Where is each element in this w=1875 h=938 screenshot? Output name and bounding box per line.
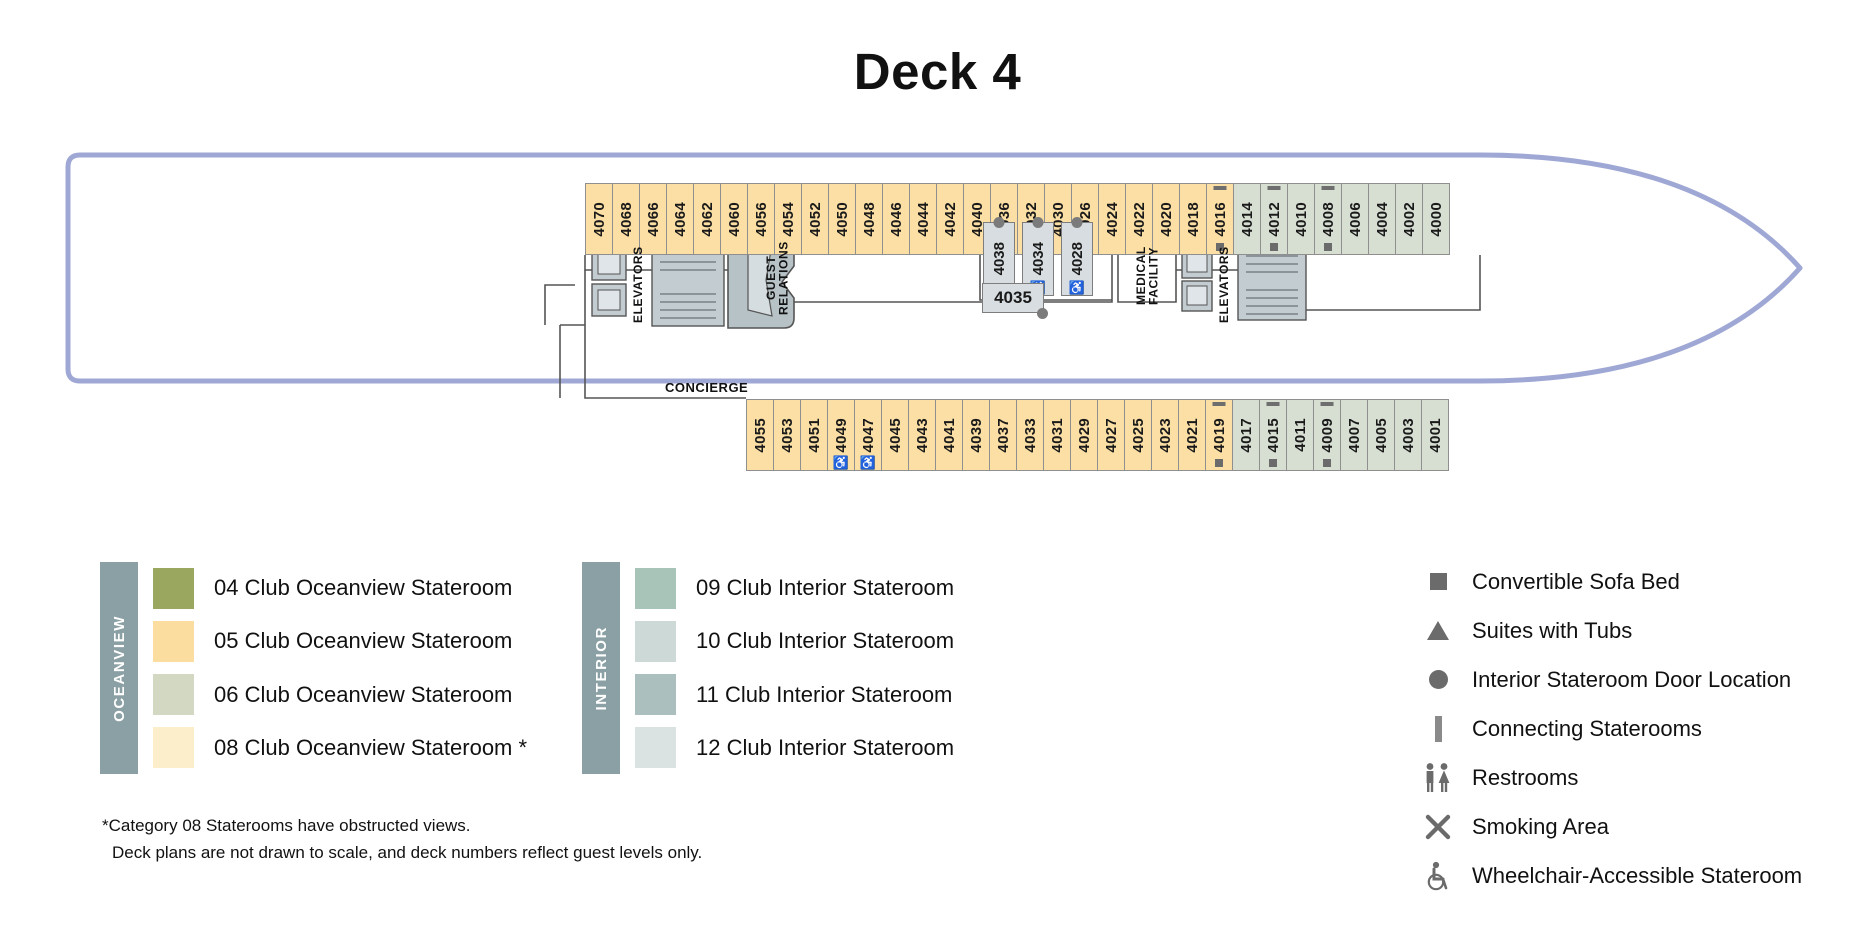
stateroom-number: 4004 (1375, 202, 1390, 237)
symbol-legend-label: Smoking Area (1472, 814, 1609, 840)
stateroom-number: 4009 (1320, 418, 1335, 453)
interior-spine: INTERIOR (582, 562, 620, 774)
smoking-area-icon (1418, 813, 1458, 841)
stateroom-4007[interactable]: 4007 (1340, 399, 1368, 471)
stateroom-number: 4019 (1212, 418, 1227, 453)
sofa-bed-icon (1270, 243, 1278, 251)
stateroom-4070[interactable]: 4070 (585, 183, 613, 255)
stateroom-number: 4021 (1185, 418, 1200, 453)
stateroom-4018[interactable]: 4018 (1179, 183, 1207, 255)
symbol-legend-label: Convertible Sofa Bed (1472, 569, 1680, 595)
stateroom-4021[interactable]: 4021 (1178, 399, 1206, 471)
legend-label: 10 Club Interior Stateroom (696, 628, 954, 654)
legend-item: 06 Club Oceanview Stateroom (153, 668, 527, 721)
stateroom-row-lower: 4055405340514049♿4047♿404540434041403940… (746, 399, 1448, 471)
stateroom-number: 4002 (1402, 202, 1417, 237)
stateroom-4042[interactable]: 4042 (936, 183, 964, 255)
legend-label: 05 Club Oceanview Stateroom (214, 628, 512, 654)
stateroom-4037[interactable]: 4037 (989, 399, 1017, 471)
stateroom-number: 4012 (1267, 202, 1282, 237)
elevator-bank-left (592, 248, 626, 316)
circle-icon (1418, 670, 1458, 689)
stateroom-number: 4055 (753, 418, 768, 453)
sofa-bed-icon (1418, 573, 1458, 590)
legend-color-swatch (153, 568, 194, 609)
stateroom-4039[interactable]: 4039 (962, 399, 990, 471)
stateroom-number: 4038 (991, 242, 1008, 275)
stateroom-4004[interactable]: 4004 (1368, 183, 1396, 255)
stateroom-number: 4023 (1158, 418, 1173, 453)
legend-item: 08 Club Oceanview Stateroom * (153, 721, 527, 774)
legend-color-swatch (635, 727, 676, 768)
stateroom-number: 4062 (700, 202, 715, 237)
connecting-stateroom-icon (1321, 402, 1334, 406)
stateroom-number: 4017 (1239, 418, 1254, 453)
stateroom-4029[interactable]: 4029 (1070, 399, 1098, 471)
stateroom-4025[interactable]: 4025 (1124, 399, 1152, 471)
legend-interior: INTERIOR 09 Club Interior Stateroom10 Cl… (582, 562, 954, 774)
stateroom-number: 4052 (808, 202, 823, 237)
stateroom-4000[interactable]: 4000 (1422, 183, 1450, 255)
connecting-stateroom-icon (1268, 186, 1281, 190)
stateroom-4043[interactable]: 4043 (908, 399, 936, 471)
stateroom-4064[interactable]: 4064 (666, 183, 694, 255)
stateroom-number: 4018 (1186, 202, 1201, 237)
stateroom-number: 4064 (673, 202, 688, 237)
stateroom-number: 4025 (1131, 418, 1146, 453)
stateroom-4028[interactable]: 4028 ♿ (1061, 222, 1093, 296)
sofa-bed-icon (1215, 459, 1223, 467)
stateroom-4014[interactable]: 4014 (1233, 183, 1261, 255)
stateroom-number: 4043 (915, 418, 930, 453)
stateroom-4009[interactable]: 4009 (1313, 399, 1341, 471)
legend-label: 08 Club Oceanview Stateroom * (214, 735, 527, 761)
stateroom-4044[interactable]: 4044 (909, 183, 937, 255)
sofa-bed-icon (1323, 459, 1331, 467)
elevator-bank-right (1182, 248, 1212, 311)
wheelchair-icon: ♿ (833, 456, 849, 469)
connecting-stateroom-icon (1322, 186, 1335, 190)
stateroom-number: 4000 (1429, 202, 1444, 237)
stateroom-4048[interactable]: 4048 (855, 183, 883, 255)
connecting-stateroom-icon (1214, 186, 1227, 190)
stateroom-number: 4031 (1050, 418, 1065, 453)
stateroom-4011[interactable]: 4011 (1286, 399, 1314, 471)
stateroom-4027[interactable]: 4027 (1097, 399, 1125, 471)
stateroom-4049[interactable]: 4049♿ (827, 399, 855, 471)
sofa-bed-icon (1269, 459, 1277, 467)
stateroom-number: 4037 (996, 418, 1011, 453)
door-location-dot-icon (1072, 217, 1083, 228)
medical-facility-label: MEDICAL FACILITY (1135, 222, 1165, 330)
stateroom-number: 4050 (835, 202, 850, 237)
stateroom-4019[interactable]: 4019 (1205, 399, 1233, 471)
stateroom-number: 4029 (1077, 418, 1092, 453)
stateroom-4015[interactable]: 4015 (1259, 399, 1287, 471)
stateroom-number: 4027 (1104, 418, 1119, 453)
stateroom-4006[interactable]: 4006 (1341, 183, 1369, 255)
legend-color-swatch (635, 621, 676, 662)
footnotes: *Category 08 Staterooms have obstructed … (102, 812, 702, 866)
door-location-dot-icon (994, 217, 1005, 228)
legend-symbols: Convertible Sofa BedSuites with TubsInte… (1418, 557, 1802, 900)
symbol-legend-label: Suites with Tubs (1472, 618, 1632, 644)
legend-item: 05 Club Oceanview Stateroom (153, 615, 527, 668)
footnote-line-1: *Category 08 Staterooms have obstructed … (102, 812, 702, 839)
stateroom-4051[interactable]: 4051 (800, 399, 828, 471)
stateroom-4053[interactable]: 4053 (773, 399, 801, 471)
stateroom-4033[interactable]: 4033 (1016, 399, 1044, 471)
elevators-label-right: ELEVATORS (1218, 242, 1231, 328)
page-title: Deck 4 (0, 42, 1875, 101)
door-location-dot-icon (1033, 217, 1044, 228)
stateroom-number: 4044 (916, 202, 931, 237)
legend-item: 04 Club Oceanview Stateroom (153, 562, 527, 615)
stateroom-4012[interactable]: 4012 (1260, 183, 1288, 255)
legend-oceanview: OCEANVIEW 04 Club Oceanview Stateroom05 … (100, 562, 527, 774)
restrooms-icon (1418, 762, 1458, 794)
stateroom-number: 4045 (888, 418, 903, 453)
stateroom-number: 4068 (619, 202, 634, 237)
stateroom-4031[interactable]: 4031 (1043, 399, 1071, 471)
oceanview-spine-label: OCEANVIEW (111, 615, 128, 722)
stateroom-number: 4007 (1347, 418, 1362, 453)
symbol-legend-item: Interior Stateroom Door Location (1418, 655, 1802, 704)
stateroom-4062[interactable]: 4062 (693, 183, 721, 255)
connecting-stateroom-icon (1267, 402, 1280, 406)
stateroom-number: 4010 (1294, 202, 1309, 237)
triangle-icon (1418, 621, 1458, 640)
deck-plan-diagram: 4070406840664064406240604056405440524050… (0, 150, 1875, 470)
symbol-legend-item: Convertible Sofa Bed (1418, 557, 1802, 606)
stateroom-number: 4041 (942, 418, 957, 453)
symbol-legend-label: Restrooms (1472, 765, 1578, 791)
stateroom-number: 4039 (969, 418, 984, 453)
connecting-bar-icon (1418, 716, 1458, 742)
legend-label: 12 Club Interior Stateroom (696, 735, 954, 761)
stateroom-number: 4008 (1321, 202, 1336, 237)
legend-label: 09 Club Interior Stateroom (696, 575, 954, 601)
stateroom-4002[interactable]: 4002 (1395, 183, 1423, 255)
symbol-legend-item: Smoking Area (1418, 802, 1802, 851)
stateroom-number: 4070 (592, 202, 607, 237)
stateroom-number: 4016 (1213, 202, 1228, 237)
stateroom-number: 4060 (727, 202, 742, 237)
stateroom-4046[interactable]: 4046 (882, 183, 910, 255)
legend-color-swatch (635, 674, 676, 715)
stateroom-number: 4042 (943, 202, 958, 237)
wheelchair-icon (1418, 861, 1458, 891)
stateroom-4035[interactable]: 4035 (982, 283, 1044, 313)
stateroom-4052[interactable]: 4052 (801, 183, 829, 255)
stateroom-number: 4014 (1240, 202, 1255, 237)
stateroom-4050[interactable]: 4050 (828, 183, 856, 255)
stateroom-number: 4047 (861, 418, 876, 453)
legend-item: 11 Club Interior Stateroom (635, 668, 954, 721)
stateroom-number: 4024 (1105, 202, 1120, 237)
legend-item: 09 Club Interior Stateroom (635, 562, 954, 615)
stateroom-number: 4015 (1266, 418, 1281, 453)
interior-spine-label: INTERIOR (593, 626, 610, 710)
symbol-legend-item: Restrooms (1418, 753, 1802, 802)
concierge-label: CONCIERGE (665, 380, 748, 395)
legend-color-swatch (153, 621, 194, 662)
legend-label: 06 Club Oceanview Stateroom (214, 682, 512, 708)
guest-relations-label: GUEST RELATIONS (765, 222, 795, 334)
stateroom-4047[interactable]: 4047♿ (854, 399, 882, 471)
stateroom-number: 4048 (862, 202, 877, 237)
stateroom-4010[interactable]: 4010 (1287, 183, 1315, 255)
wheelchair-icon: ♿ (1069, 281, 1085, 294)
wheelchair-icon: ♿ (860, 456, 876, 469)
stateroom-number: 4051 (807, 418, 822, 453)
legend-item: 12 Club Interior Stateroom (635, 721, 954, 774)
stateroom-4001[interactable]: 4001 (1421, 399, 1449, 471)
symbol-legend-label: Interior Stateroom Door Location (1472, 667, 1791, 693)
legend-color-swatch (635, 568, 676, 609)
symbol-legend-item: Connecting Staterooms (1418, 704, 1802, 753)
stateroom-number: 4011 (1293, 418, 1308, 452)
stateroom-4045[interactable]: 4045 (881, 399, 909, 471)
stateroom-4017[interactable]: 4017 (1232, 399, 1260, 471)
stateroom-number: 4001 (1428, 418, 1443, 453)
symbol-legend-item: Suites with Tubs (1418, 606, 1802, 655)
stateroom-number: 4035 (994, 288, 1032, 308)
stateroom-4041[interactable]: 4041 (935, 399, 963, 471)
footnote-line-2: Deck plans are not drawn to scale, and d… (102, 839, 702, 866)
legend-item: 10 Club Interior Stateroom (635, 615, 954, 668)
door-location-dot-icon (1037, 308, 1048, 319)
stateroom-row-upper: 4070406840664064406240604056405440524050… (585, 183, 1449, 255)
legend-label: 11 Club Interior Stateroom (696, 682, 952, 708)
stateroom-4003[interactable]: 4003 (1394, 399, 1422, 471)
connecting-stateroom-icon (1213, 402, 1226, 406)
legend-label: 04 Club Oceanview Stateroom (214, 575, 512, 601)
elevators-label-left: ELEVATORS (632, 242, 645, 328)
stateroom-number: 4005 (1374, 418, 1389, 453)
stateroom-4008[interactable]: 4008 (1314, 183, 1342, 255)
stateroom-4024[interactable]: 4024 (1098, 183, 1126, 255)
stateroom-4055[interactable]: 4055 (746, 399, 774, 471)
legend-color-swatch (153, 674, 194, 715)
legend-color-swatch (153, 727, 194, 768)
stateroom-number: 4053 (780, 418, 795, 453)
stateroom-number: 4066 (646, 202, 661, 237)
symbol-legend-label: Connecting Staterooms (1472, 716, 1702, 742)
symbol-legend-label: Wheelchair-Accessible Stateroom (1472, 863, 1802, 889)
stateroom-number: 4046 (889, 202, 904, 237)
stateroom-4023[interactable]: 4023 (1151, 399, 1179, 471)
oceanview-spine: OCEANVIEW (100, 562, 138, 774)
stateroom-number: 4034 (1030, 242, 1047, 275)
stateroom-number: 4006 (1348, 202, 1363, 237)
stateroom-4005[interactable]: 4005 (1367, 399, 1395, 471)
sofa-bed-icon (1324, 243, 1332, 251)
stateroom-number: 4003 (1401, 418, 1416, 453)
stateroom-4060[interactable]: 4060 (720, 183, 748, 255)
symbol-legend-item: Wheelchair-Accessible Stateroom (1418, 851, 1802, 900)
stateroom-number: 4049 (834, 418, 849, 453)
stateroom-number: 4033 (1023, 418, 1038, 453)
stateroom-number: 4028 (1069, 242, 1086, 275)
